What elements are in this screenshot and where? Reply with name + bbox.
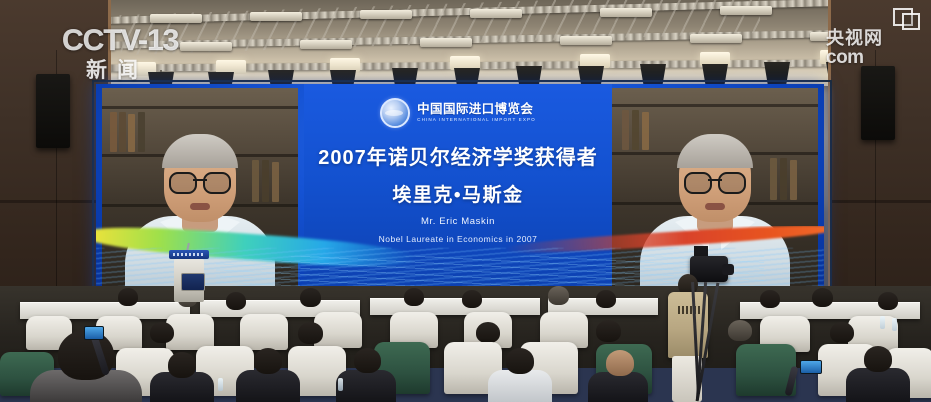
audience-head (462, 290, 482, 308)
soft-light (330, 58, 360, 72)
phone-screen (84, 326, 104, 340)
window-square-icon (893, 8, 919, 28)
hanging-speaker (36, 74, 70, 148)
audience-head (596, 320, 621, 342)
stage-light (690, 34, 742, 43)
eyeglasses-icon (684, 172, 746, 190)
stage-light (470, 9, 522, 18)
audience-head (300, 288, 321, 307)
audience-head (254, 348, 282, 374)
bookshelf-line (102, 106, 298, 109)
wall-panel-split (831, 200, 931, 203)
cctv-channel-sublabel: 新闻 (86, 54, 148, 84)
soft-light (700, 52, 730, 66)
audience-shoulders (588, 372, 648, 402)
audience-head (476, 322, 500, 343)
globe-icon (380, 98, 410, 128)
book (770, 158, 777, 200)
speaker-name-cn: 埃里克•马斯金 (392, 180, 523, 207)
audience-head (404, 288, 424, 306)
soft-light (580, 54, 610, 68)
award-title-cn: 2007年诺贝尔经济学奖获得者 (318, 141, 598, 170)
book (642, 112, 649, 150)
water-bottle (338, 378, 343, 391)
lens-right (203, 172, 231, 194)
expo-logo-text: 中国国际进口博览会 CHINA INTERNATIONAL IMPORT EXP… (417, 103, 536, 123)
audience-head (548, 286, 569, 305)
soft-light (450, 56, 480, 70)
water-bottle (880, 316, 885, 329)
book (252, 160, 259, 202)
audience-head (830, 322, 854, 343)
podium-screen (181, 273, 205, 291)
book (262, 160, 269, 202)
audience-head (760, 290, 780, 308)
soft-light (216, 60, 246, 74)
speaker-mouth (705, 203, 725, 210)
podium-header-bar (169, 250, 209, 259)
eyeglasses-icon (169, 172, 231, 190)
audience-head (864, 346, 892, 372)
stage-light (560, 36, 612, 45)
speaker-mouth (190, 203, 210, 210)
audience-area (0, 286, 931, 402)
stage-light (300, 40, 352, 49)
water-bottle (892, 318, 897, 331)
bookshelf-line (612, 104, 818, 107)
cctv-channel-logo: CCTV-13 (62, 24, 178, 58)
audience-shoulders (488, 370, 552, 402)
book (622, 110, 629, 150)
stage-light (420, 38, 472, 47)
audience-head (606, 350, 634, 376)
book (110, 112, 117, 152)
book (632, 110, 639, 150)
glasses-bridge (193, 179, 207, 181)
broadcast-frame: 中国国际进口博览会 CHINA INTERNATIONAL IMPORT EXP… (0, 0, 931, 402)
audience-head (226, 292, 246, 310)
icon-square-inner (902, 13, 920, 30)
book (272, 162, 279, 202)
audience-shoulders (846, 368, 910, 402)
cntv-name-en: com (826, 47, 883, 69)
audience-head (298, 322, 323, 344)
cntv-network-logo: 央视网 com (826, 24, 883, 69)
book (138, 112, 145, 152)
audience-head (596, 290, 616, 308)
stage-light (150, 14, 202, 23)
audience-shoulders (236, 370, 300, 402)
stage-light (720, 6, 772, 15)
lens-right (718, 172, 746, 194)
stage-light (600, 8, 652, 17)
lens-left (169, 172, 197, 194)
hanging-speaker (861, 66, 895, 140)
book (780, 158, 787, 200)
lens-left (684, 172, 712, 194)
expo-name-en: CHINA INTERNATIONAL IMPORT EXPO (417, 118, 536, 123)
audience-shoulders (336, 370, 396, 402)
glasses-bridge (708, 179, 722, 181)
book (128, 114, 135, 152)
phone-screen (800, 360, 822, 374)
book (119, 112, 126, 152)
audience-head (168, 352, 196, 378)
stage-light (180, 42, 232, 51)
camera-operator (660, 252, 730, 402)
expo-name-cn: 中国国际进口博览会 (417, 103, 536, 116)
camera-lens (722, 264, 734, 275)
audience-head (728, 320, 752, 341)
audience-head (354, 348, 381, 373)
audience-head (878, 292, 898, 310)
audience-head (118, 288, 138, 306)
expo-logo: 中国国际进口博览会 CHINA INTERNATIONAL IMPORT EXP… (380, 98, 536, 128)
stage-light (250, 12, 302, 21)
book (790, 160, 797, 200)
water-bottle (218, 378, 223, 391)
audience-head (506, 348, 534, 374)
podium (171, 250, 207, 302)
podium-body (174, 259, 204, 302)
chair (240, 314, 288, 350)
audience-head (150, 322, 174, 343)
vest-print (678, 306, 700, 314)
audience-head (812, 288, 833, 307)
stage-light (360, 10, 412, 19)
